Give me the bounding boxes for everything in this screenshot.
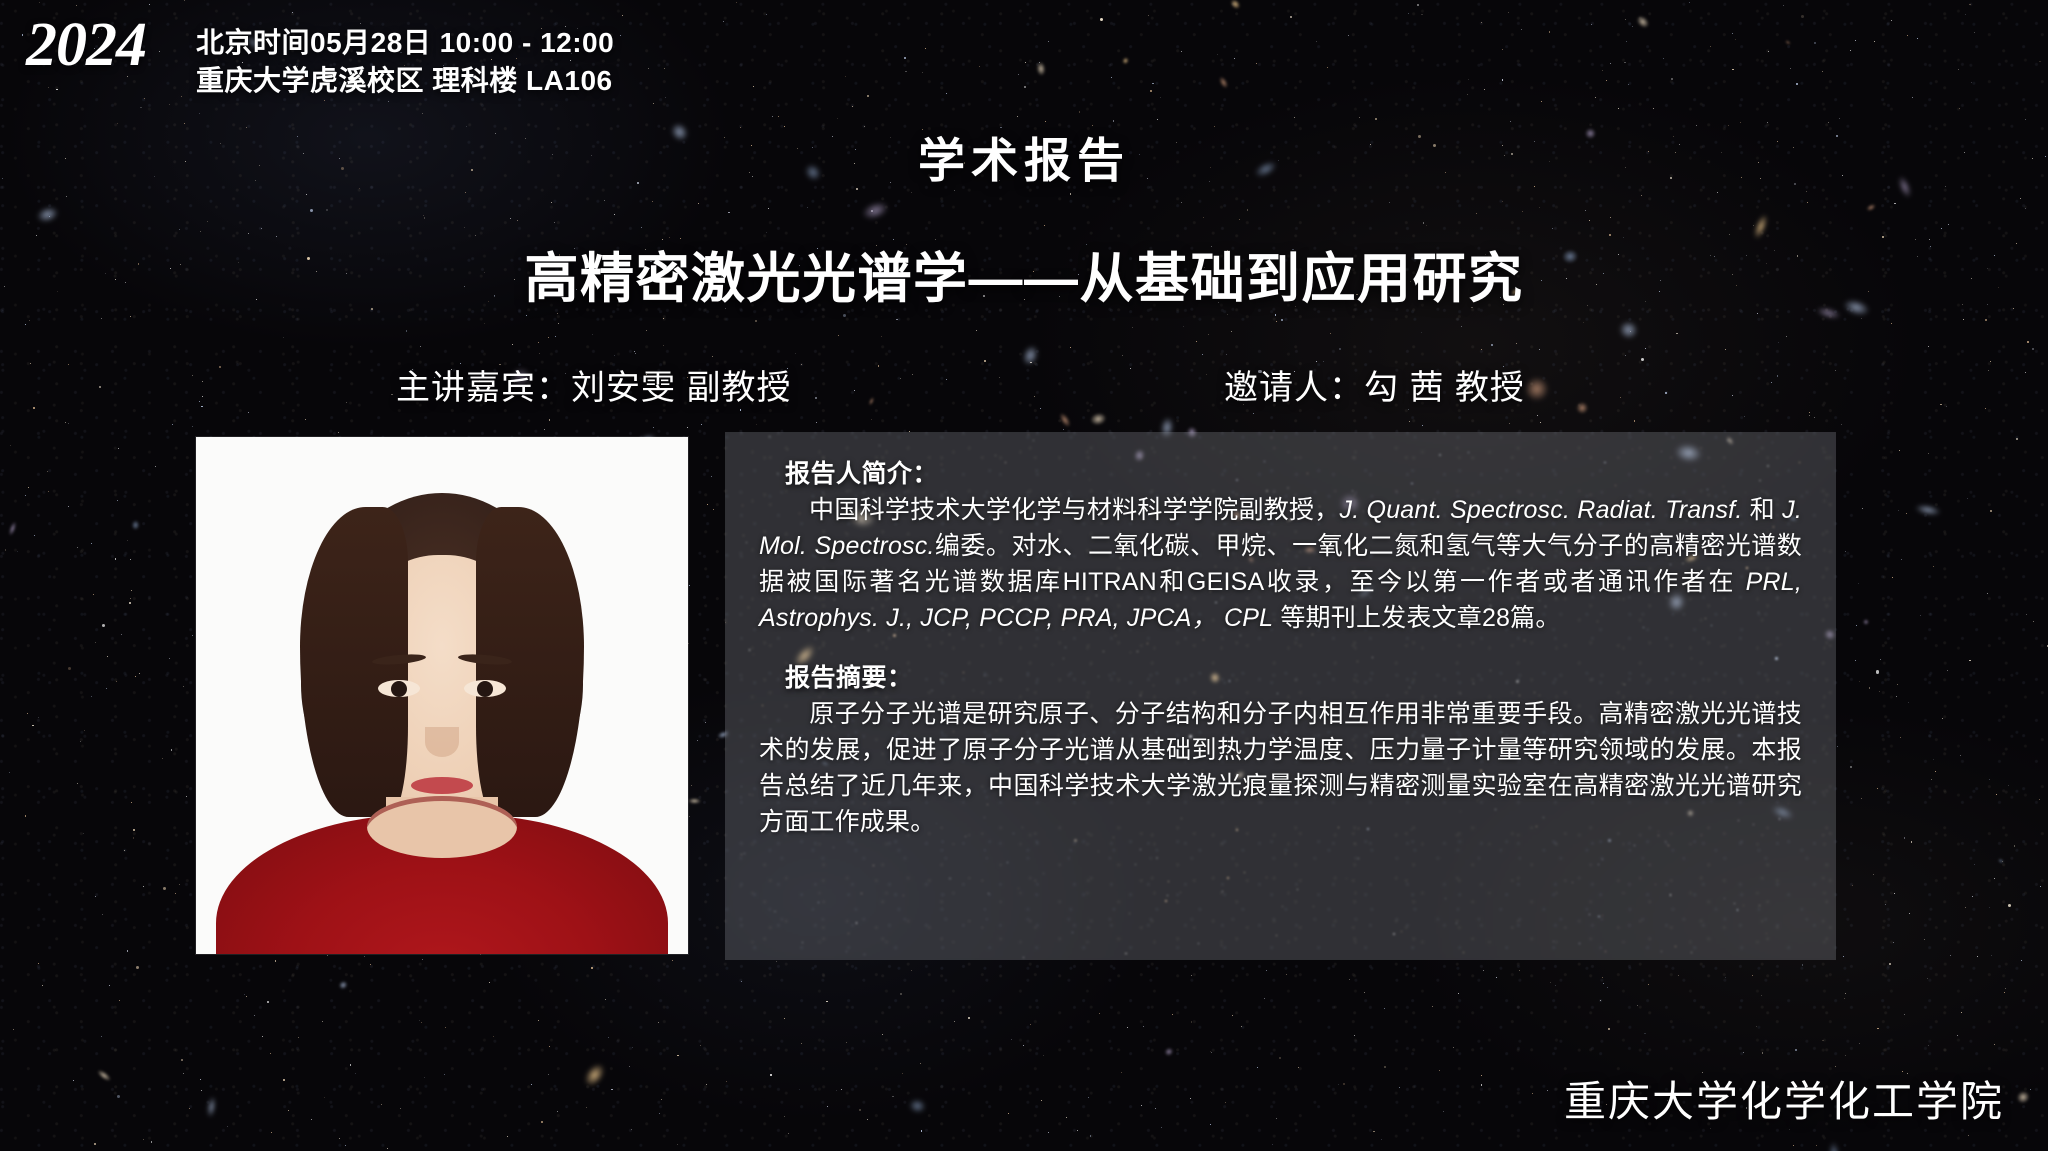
- portrait-nose: [425, 727, 459, 757]
- speaker-portrait: [196, 437, 688, 954]
- speaker-label: 主讲嘉宾：刘安雯 副教授: [396, 360, 791, 409]
- year-label: 2024: [26, 14, 146, 76]
- panel-section-gap: [759, 636, 1802, 658]
- seminar-poster: 2024 北京时间05月28日 10:00 - 12:00 重庆大学虎溪校区 理…: [0, 0, 2048, 1151]
- abstract-heading: 报告摘要：: [785, 658, 1802, 694]
- portrait-collar: [367, 796, 517, 858]
- bio-heading: 报告人简介：: [785, 454, 1802, 490]
- abstract-text: 原子分子光谱是研究原子、分子结构和分子内相互作用非常重要手段。高精密激光光谱技术…: [759, 696, 1802, 840]
- portrait-eye-left: [378, 680, 420, 697]
- people-row: 主讲嘉宾：刘安雯 副教授 邀请人：勾 茜 教授: [0, 360, 2048, 408]
- bio-fragment: 中国科学技术大学化学与材料科学学院副教授，: [809, 496, 1340, 524]
- bio-text: 中国科学技术大学化学与材料科学学院副教授，J. Quant. Spectrosc…: [759, 492, 1802, 636]
- info-panel: 报告人简介： 中国科学技术大学化学与材料科学学院副教授，J. Quant. Sp…: [725, 432, 1836, 960]
- bio-rich-text: 中国科学技术大学化学与材料科学学院副教授，J. Quant. Spectrosc…: [759, 496, 1802, 632]
- portrait-eye-right: [464, 680, 506, 697]
- poster-title: 高精密激光光谱学——从基础到应用研究: [0, 234, 2048, 313]
- portrait-mouth: [411, 777, 473, 794]
- bio-fragment: 等期刊上发表文章28篇。: [1273, 604, 1560, 632]
- bio-fragment: 和: [1742, 496, 1782, 524]
- organization-footer: 重庆大学化学化工学院: [1564, 1068, 2004, 1129]
- abstract-body: 原子分子光谱是研究原子、分子结构和分子内相互作用非常重要手段。高精密激光光谱技术…: [759, 700, 1802, 836]
- inviter-label: 邀请人：勾 茜 教授: [1224, 360, 1525, 409]
- journal-name: J. Quant. Spectrosc. Radiat. Transf.: [1340, 496, 1743, 524]
- event-datetime: 北京时间05月28日 10:00 - 12:00: [196, 24, 614, 62]
- event-meta: 北京时间05月28日 10:00 - 12:00 重庆大学虎溪校区 理科楼 LA…: [196, 24, 614, 99]
- event-venue: 重庆大学虎溪校区 理科楼 LA106: [196, 62, 614, 100]
- poster-kicker: 学术报告: [0, 122, 2048, 191]
